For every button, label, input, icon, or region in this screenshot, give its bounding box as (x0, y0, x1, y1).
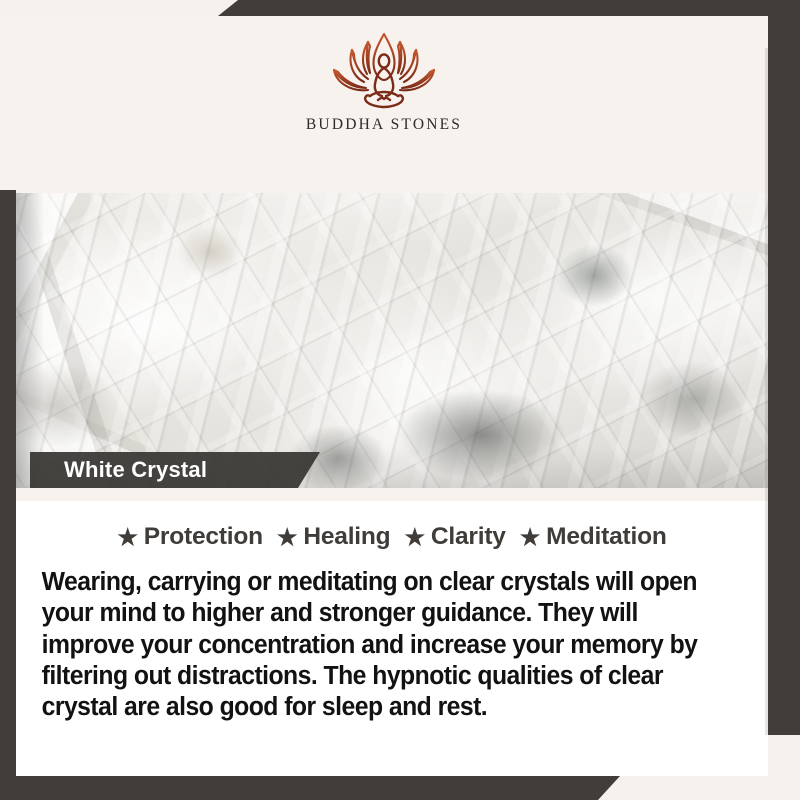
infographic-page: BUDDHA STONES Stone Features & Benefits … (0, 0, 800, 800)
benefit-label: Protection (144, 523, 263, 551)
description-text: Wearing, carrying or meditating on clear… (30, 567, 732, 724)
benefit-label: Clarity (431, 523, 506, 551)
benefit-label: Meditation (546, 523, 667, 551)
frame-left-bar (0, 190, 16, 790)
photo-layer-vignette (14, 193, 768, 488)
benefit-item: ★ Protection (117, 523, 263, 551)
star-icon: ★ (520, 526, 540, 549)
panel-top-strip (16, 488, 768, 501)
header: BUDDHA STONES (0, 16, 768, 194)
photo-caption-label: White Crystal (30, 457, 207, 483)
star-icon: ★ (404, 526, 424, 549)
benefit-item: ★ Clarity (404, 523, 505, 551)
benefit-item: ★ Meditation (520, 523, 667, 551)
frame-bottom-bar (0, 776, 620, 800)
frame-right-bar (768, 0, 800, 735)
star-icon: ★ (277, 526, 297, 549)
star-icon: ★ (117, 526, 137, 549)
benefit-label: Healing (303, 523, 390, 551)
brand-logo: BUDDHA STONES (289, 28, 479, 134)
frame-top-bar (218, 0, 800, 16)
crystal-photo: White Crystal (14, 193, 768, 488)
brand-name: BUDDHA STONES (306, 116, 462, 134)
benefits-row: ★ Protection ★ Healing ★ Clarity ★ Medit… (30, 523, 754, 551)
photo-caption-banner: White Crystal (30, 452, 320, 488)
lotus-meditation-figure-icon (324, 28, 444, 112)
content-panel: ★ Protection ★ Healing ★ Clarity ★ Medit… (16, 501, 768, 776)
benefit-item: ★ Healing (277, 523, 391, 551)
